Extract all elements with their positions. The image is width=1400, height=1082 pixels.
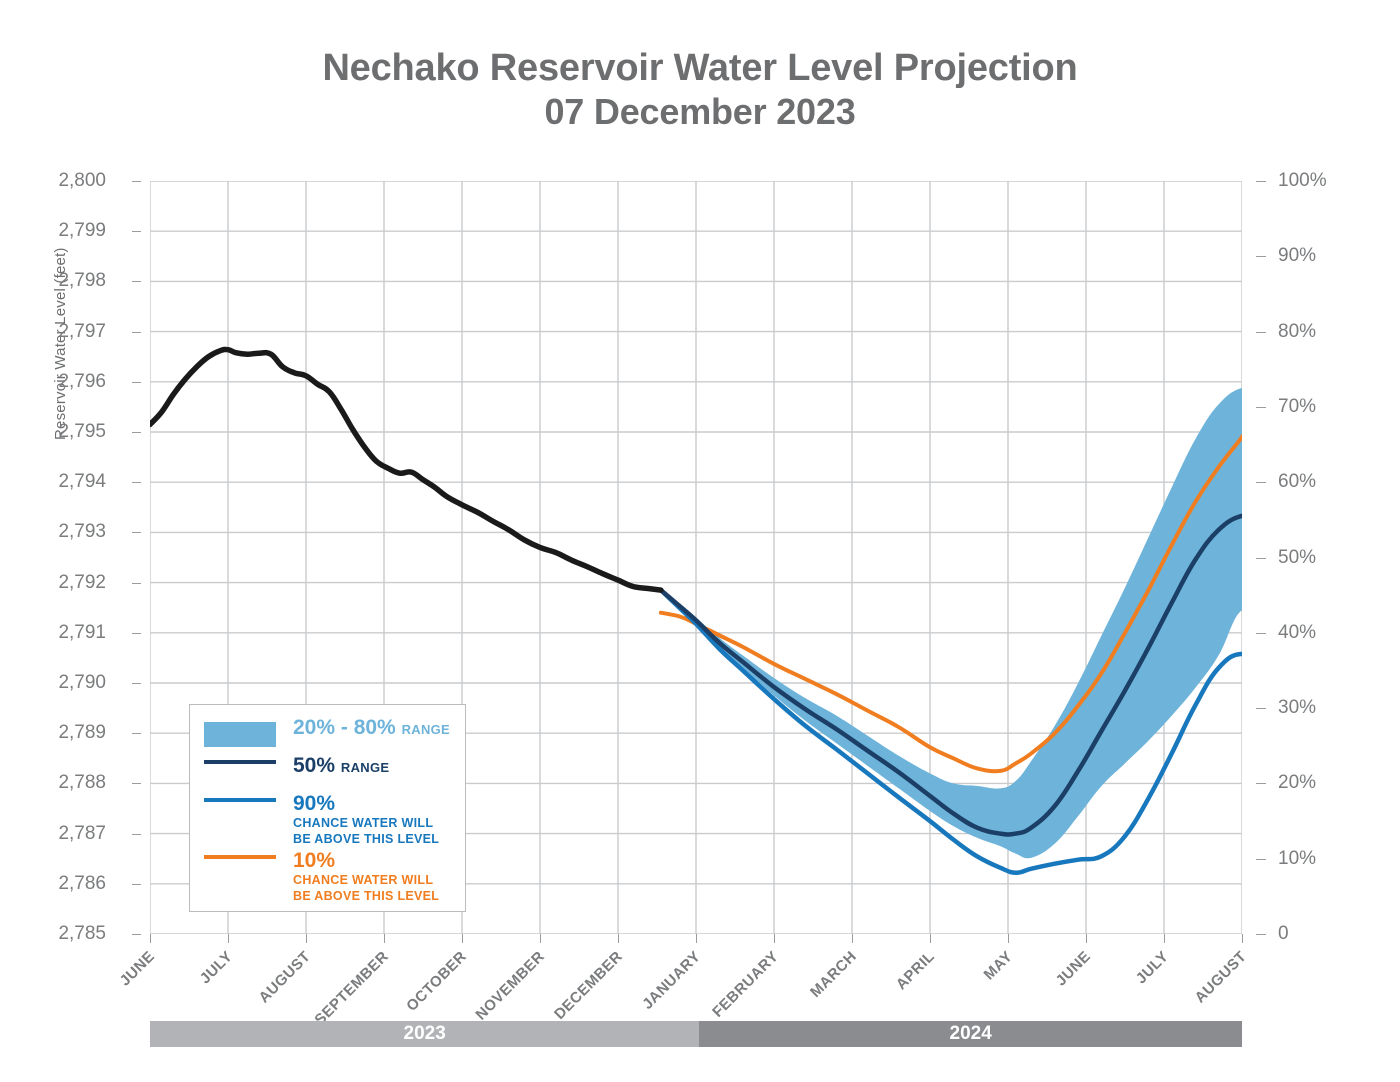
legend-detail-p90-line2: BE ABOVE THIS LEVEL [293,831,439,847]
y-tick-right-mark [1256,708,1266,709]
y-tick-left: 2,790 [58,672,106,694]
x-tick-mark [462,934,463,943]
legend-label-median-50: 50% RANGE [293,755,389,777]
y-tick-right-mark [1256,256,1266,257]
y-tick-right: 90% [1278,245,1316,267]
y-tick-right: 50% [1278,547,1316,569]
y-tick-right-mark [1256,783,1266,784]
y-tick-left: 2,789 [58,722,106,744]
y-tick-right: 70% [1278,396,1316,418]
y-tick-right-mark [1256,558,1266,559]
x-tick-mark [930,934,931,943]
x-tick-mark [852,934,853,943]
y-tick-left: 2,798 [58,270,106,292]
x-tick-mark [384,934,385,943]
y-tick-left: 2,795 [58,421,106,443]
y-tick-left: 2,788 [58,772,106,794]
legend-label-p90: 90% [293,793,439,815]
y-tick-left: 2,799 [58,220,106,242]
x-axis-labels: JUNEJULYAUGUSTSEPTEMBEROCTOBERNOVEMBERDE… [0,934,1400,1014]
y-tick-right: 40% [1278,622,1316,644]
y-tick-right: 100% [1278,170,1327,192]
legend-item-p90[interactable]: 90% CHANCE WATER WILL BE ABOVE THIS LEVE… [204,793,439,847]
y-tick-right-mark [1256,407,1266,408]
page-subtitle: 07 December 2023 [0,91,1400,133]
x-tick-mark [696,934,697,943]
y-tick-right-mark [1256,482,1266,483]
legend-detail-p90-line1: CHANCE WATER WILL [293,815,439,831]
legend-detail-p10-line2: BE ABOVE THIS LEVEL [293,888,439,904]
legend-label-p10: 10% [293,850,439,872]
y-tick-left: 2,791 [58,622,106,644]
y-tick-left: 2,792 [58,572,106,594]
y-tick-right-mark [1256,859,1266,860]
year-bar: 20232024 [150,1021,1242,1047]
y-tick-left: 2,794 [58,471,106,493]
y-tick-left: 2,797 [58,321,106,343]
chart-title-block: Nechako Reservoir Water Level Projection… [0,46,1400,133]
chart-legend: 20% - 80% RANGE 50% RANGE 90% CHANCE WAT… [189,704,466,912]
y-tick-left: 2,786 [58,873,106,895]
y-tick-right: 10% [1278,848,1316,870]
y-tick-right: 60% [1278,471,1316,493]
x-tick-mark [306,934,307,943]
y-axis-left-labels: 2,8002,7992,7982,7972,7962,7952,7942,793… [0,181,136,934]
y-tick-left: 2,796 [58,371,106,393]
y-tick-right-mark [1256,181,1266,182]
legend-swatch-p90-line-icon [204,793,286,802]
page-title: Nechako Reservoir Water Level Projection [0,46,1400,91]
y-tick-right-mark [1256,633,1266,634]
legend-detail-p10-line1: CHANCE WATER WILL [293,872,439,888]
legend-swatch-band-icon [204,717,286,747]
y-tick-right: 20% [1278,772,1316,794]
y-tick-right: 80% [1278,321,1316,343]
x-tick-mark [228,934,229,943]
legend-label-band-20-80: 20% - 80% RANGE [293,717,450,739]
y-tick-right-mark [1256,332,1266,333]
y-axis-right-labels: 100%90%80%70%60%50%40%30%20%10%0 [1256,181,1376,934]
y-tick-left: 2,800 [58,170,106,192]
y-tick-left: 2,793 [58,521,106,543]
x-tick-mark [774,934,775,943]
year-segment: 2023 [150,1021,699,1047]
x-tick-mark [150,934,151,943]
legend-swatch-p10-line-icon [204,850,286,859]
x-tick-mark [1008,934,1009,943]
legend-item-median-50[interactable]: 50% RANGE [204,755,389,777]
x-tick-mark [618,934,619,943]
x-tick-mark [1164,934,1165,943]
x-tick-mark [1086,934,1087,943]
y-tick-right: 30% [1278,697,1316,719]
legend-item-band-20-80[interactable]: 20% - 80% RANGE [204,717,450,747]
legend-swatch-median-line-icon [204,755,286,764]
year-segment: 2024 [699,1021,1242,1047]
x-tick-mark [1242,934,1243,943]
y-tick-left: 2,787 [58,823,106,845]
x-tick-mark [540,934,541,943]
legend-item-p10[interactable]: 10% CHANCE WATER WILL BE ABOVE THIS LEVE… [204,850,439,904]
